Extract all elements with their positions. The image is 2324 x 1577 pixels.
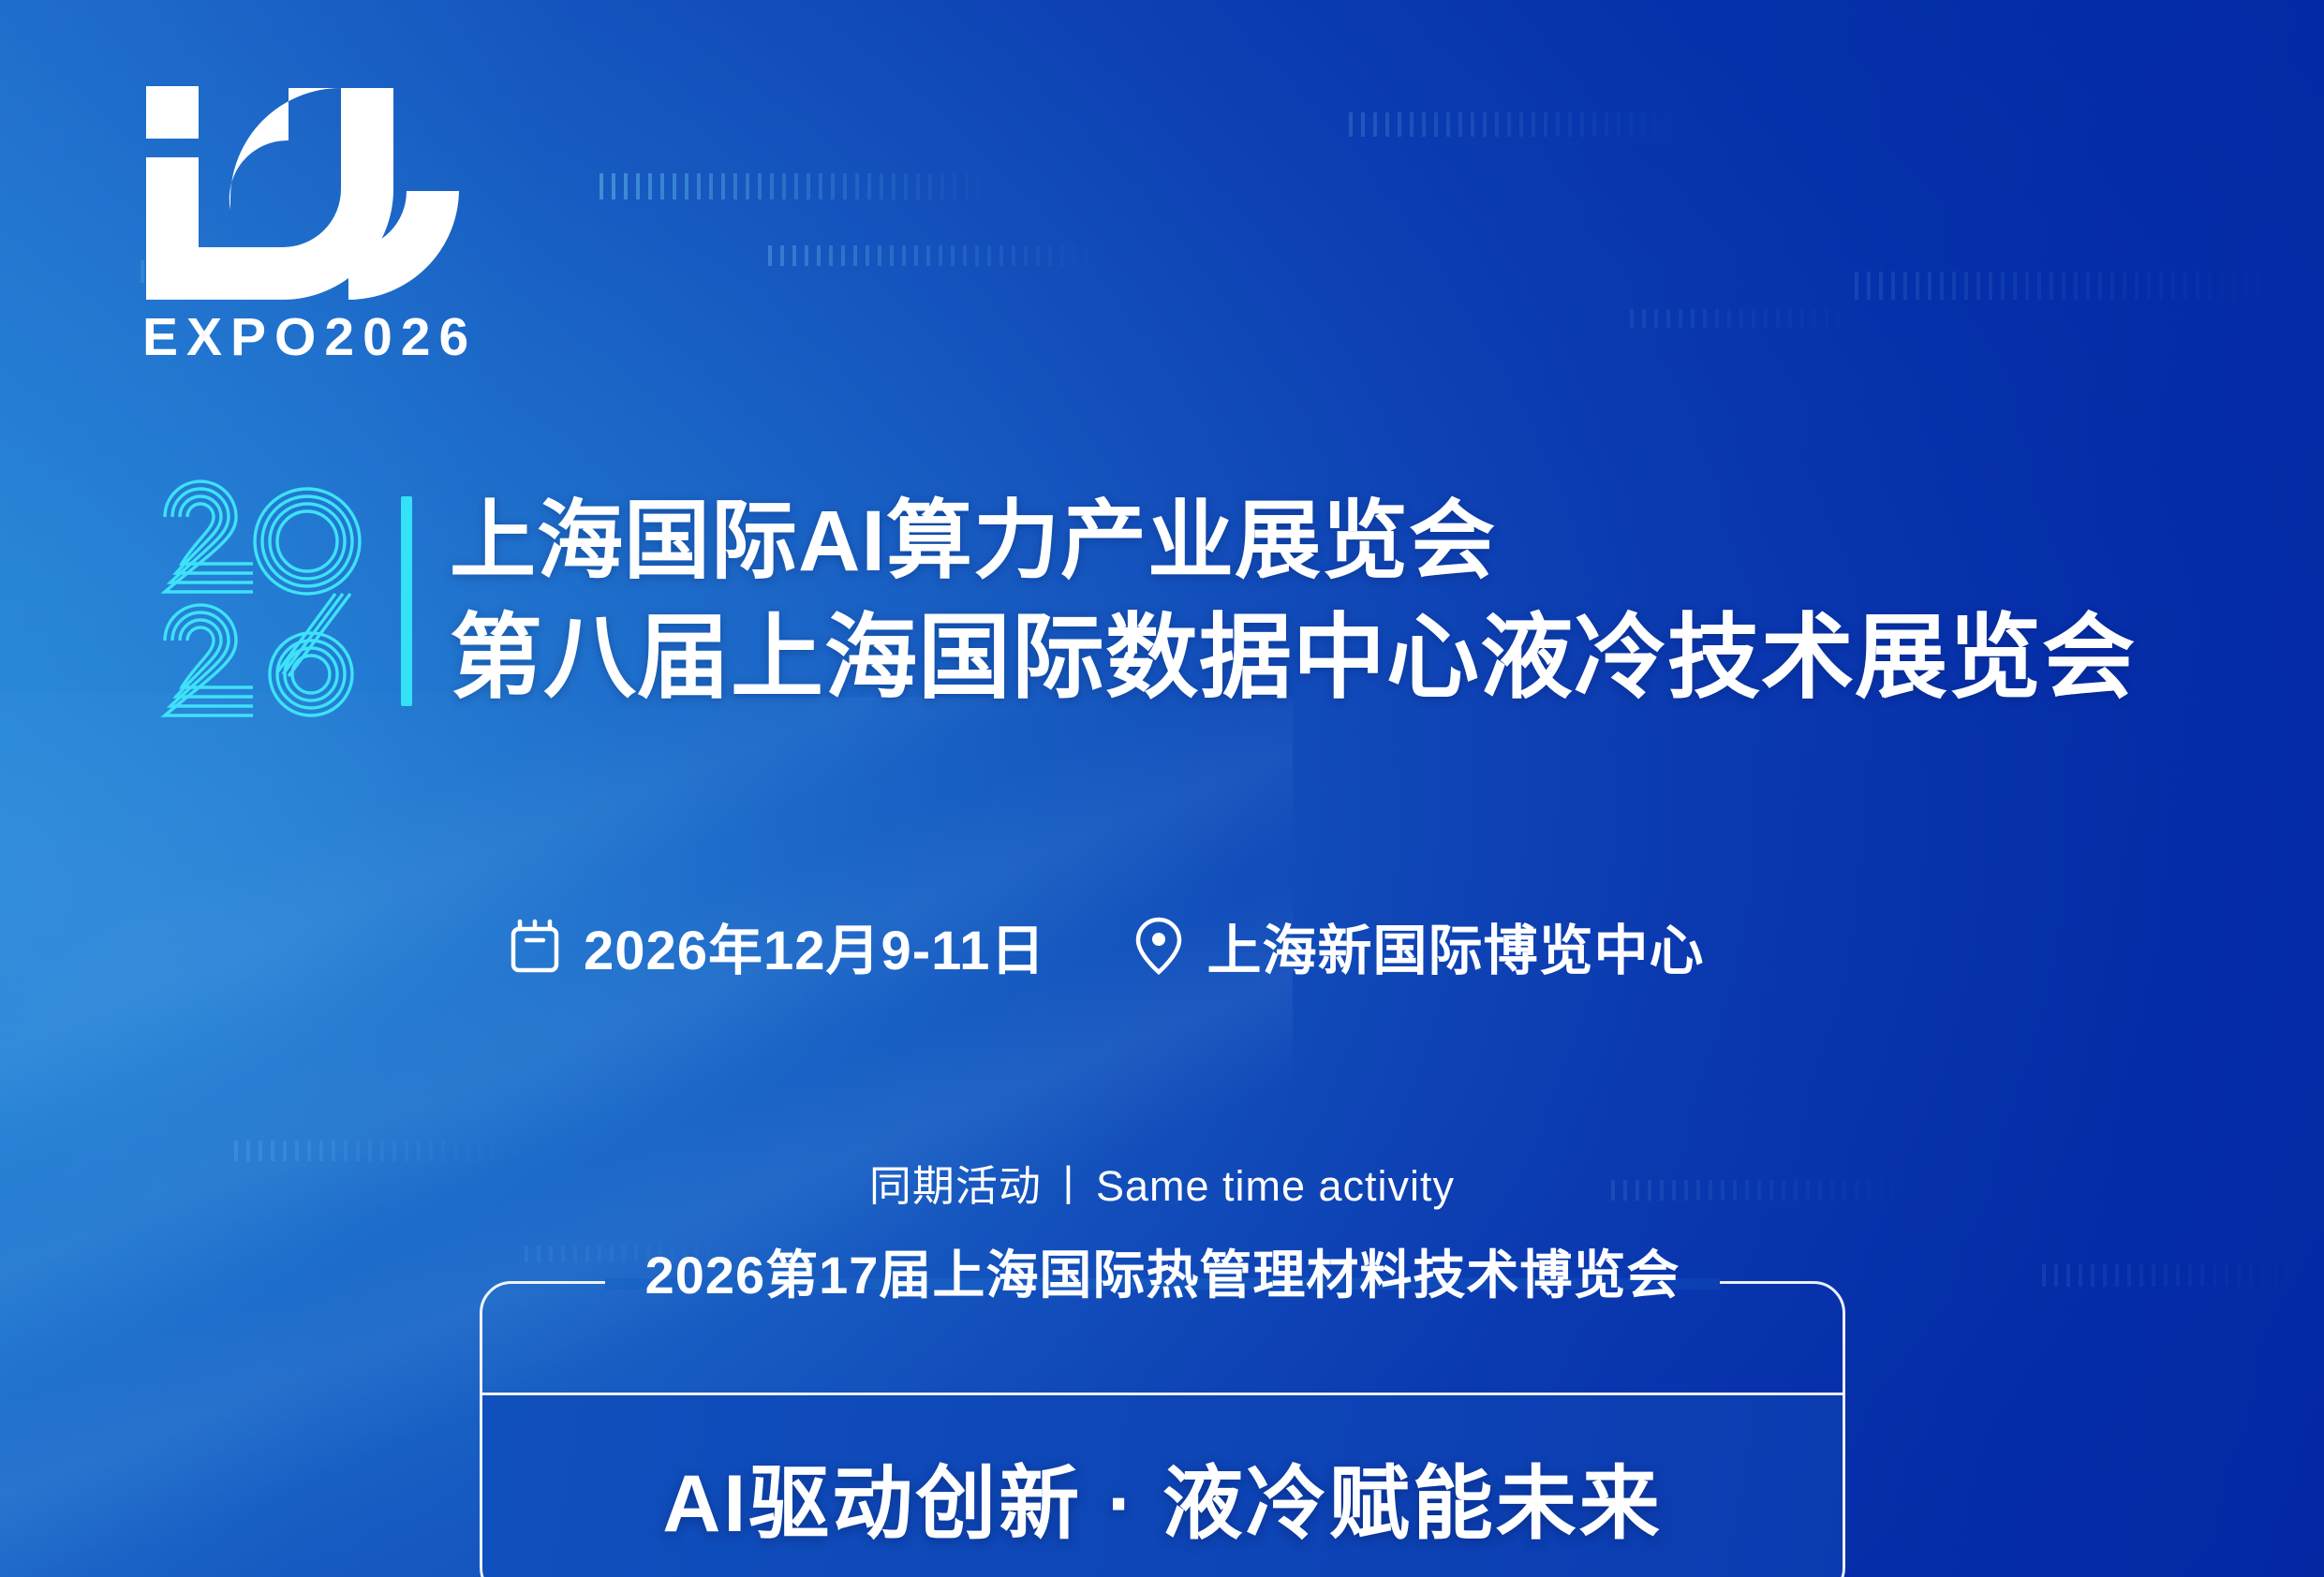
brand-logo: EXPO2026 bbox=[142, 86, 477, 364]
calendar-icon bbox=[511, 919, 559, 973]
brand-wordmark: EXPO2026 bbox=[142, 311, 477, 364]
year-2026-graphic bbox=[157, 476, 375, 727]
event-venue-text: 上海新国际博览中心 bbox=[1206, 906, 1704, 985]
headline-block: 上海国际AI算力产业展览会 第八届上海国际数据中心液冷技术展览会 bbox=[157, 476, 2136, 727]
concurrent-label-cn: 同期活动 bbox=[869, 1162, 1042, 1210]
event-venue: 上海新国际博览中心 bbox=[1135, 906, 1704, 985]
co-event-title: 2026第17届上海国际热管理材料技术博览会 bbox=[614, 1249, 1712, 1302]
concurrent-separator: 丨 bbox=[1042, 1162, 1096, 1210]
poster-canvas: EXPO2026 bbox=[0, 0, 2324, 1577]
event-date: 2026年12月9-11日 bbox=[511, 906, 1045, 985]
concurrent-label-en: Same time activity bbox=[1096, 1162, 1455, 1210]
headline-line-1: 上海国际AI算力产业展览会 bbox=[450, 489, 2136, 594]
headline-titles: 上海国际AI算力产业展览会 第八届上海国际数据中心液冷技术展览会 bbox=[450, 476, 2136, 727]
headline-divider bbox=[401, 496, 412, 706]
co-event-slogan: AI驱动创新 · 液冷赋能未来 bbox=[482, 1395, 1843, 1577]
co-event-box: 2026第17届上海国际热管理材料技术博览会 AI驱动创新 · 液冷赋能未来 bbox=[480, 1281, 1845, 1577]
event-meta-row: 2026年12月9-11日 上海新国际博览中心 bbox=[511, 906, 1704, 985]
idc-monogram-logo bbox=[142, 86, 459, 300]
headline-line-2: 第八届上海国际数据中心液冷技术展览会 bbox=[450, 601, 2136, 715]
location-pin-icon bbox=[1135, 917, 1182, 975]
concurrent-activity-caption: 同期活动丨Same time activity bbox=[0, 1152, 2324, 1213]
event-date-text: 2026年12月9-11日 bbox=[584, 906, 1045, 985]
